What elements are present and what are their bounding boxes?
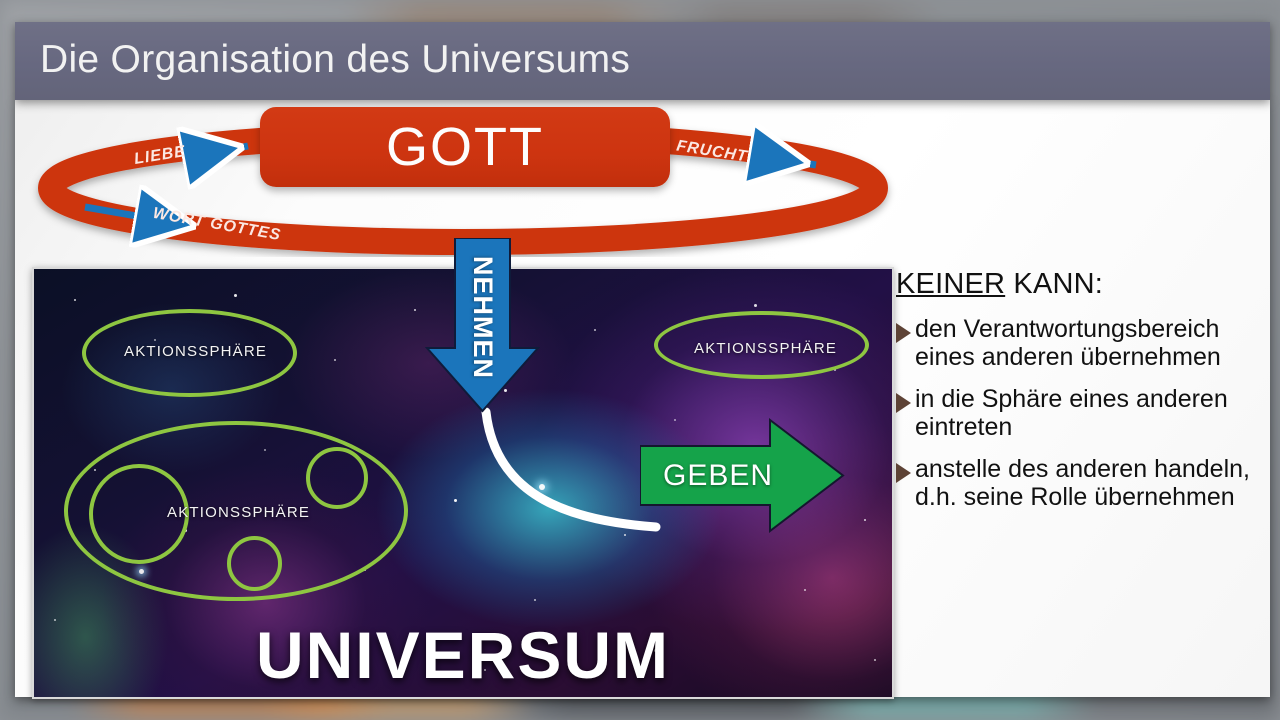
list-item-text: anstelle des anderen handeln, d.h. seine…: [915, 455, 1262, 511]
triangle-bullet-icon: [896, 393, 911, 413]
list-item-text: in die Sphäre eines anderen eintreten: [915, 385, 1262, 441]
list-item-text: den Verantwortungsbereich eines anderen …: [915, 315, 1262, 371]
universe-caption: UNIVERSUM: [34, 617, 892, 693]
god-label: GOTT: [386, 116, 544, 178]
keiner-kann-heading-underlined: KEINER: [896, 268, 1005, 300]
god-box[interactable]: GOTT: [260, 107, 670, 187]
page-title: Die Organisation des Universums: [40, 38, 630, 82]
keiner-kann-heading-rest: KANN:: [1005, 268, 1103, 300]
list-item: anstelle des anderen handeln, d.h. seine…: [896, 455, 1262, 511]
keiner-kann-panel: KEINER KANN: den Verantwortungsbereich e…: [896, 268, 1262, 525]
slide-stage: Die Organisation des Universums GOTT LIE…: [0, 0, 1280, 720]
nehmen-arrow-icon[interactable]: [425, 238, 540, 413]
keiner-kann-heading: KEINER KANN:: [896, 268, 1262, 301]
list-item: in die Sphäre eines anderen eintreten: [896, 385, 1262, 441]
triangle-bullet-icon: [896, 323, 911, 343]
list-item: den Verantwortungsbereich eines anderen …: [896, 315, 1262, 371]
triangle-bullet-icon: [896, 463, 911, 483]
geben-arrow-icon[interactable]: [640, 418, 845, 533]
